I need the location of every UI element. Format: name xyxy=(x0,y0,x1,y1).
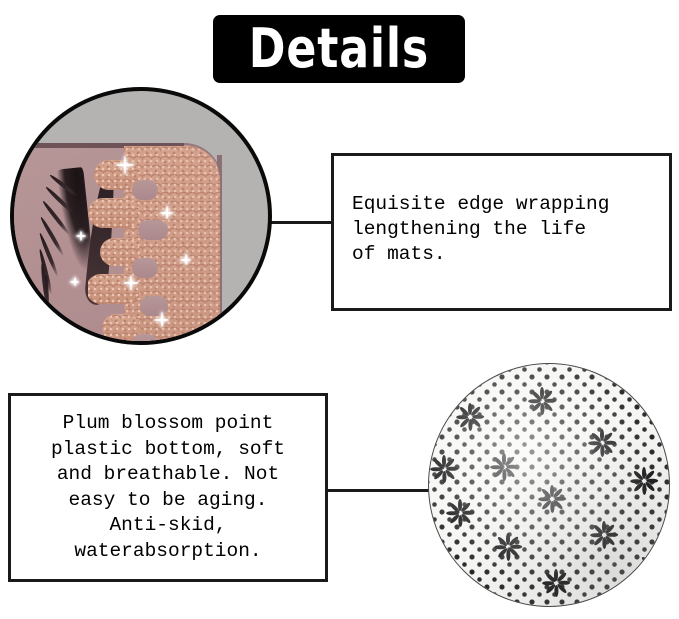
plum-blossom-icon xyxy=(535,482,569,516)
mat-notch xyxy=(132,334,158,345)
callout-edge-wrapping: Equisite edge wrapping lengthening the l… xyxy=(331,153,672,311)
plum-blossom-icon xyxy=(525,384,559,418)
glitter-drip-blob xyxy=(94,160,138,190)
mat-edge-closeup-image xyxy=(10,87,272,345)
mat-notch xyxy=(132,258,158,278)
product-details-infographic: Details xyxy=(0,0,679,619)
connector-text-to-backing xyxy=(324,489,444,492)
mat-notch xyxy=(140,296,168,316)
plum-blossom-icon xyxy=(453,400,487,434)
details-title-banner: Details xyxy=(213,15,465,83)
plum-blossom-icon xyxy=(627,464,661,498)
plum-blossom-icon xyxy=(587,518,621,552)
callout-plastic-bottom: Plum blossom point plastic bottom, soft … xyxy=(8,393,328,582)
page-title: Details xyxy=(249,22,429,76)
anti-skid-backing-image xyxy=(428,363,670,607)
callout-edge-wrapping-text: Equisite edge wrapping lengthening the l… xyxy=(352,192,609,267)
glitter-drip-blob xyxy=(88,274,140,304)
plum-blossom-icon xyxy=(635,550,669,584)
mat-notch xyxy=(138,220,168,240)
glitter-drip-blob xyxy=(88,198,140,228)
glitter-drip-pattern xyxy=(88,146,220,345)
plum-blossom-icon xyxy=(585,426,619,460)
callout-plastic-bottom-text: Plum blossom point plastic bottom, soft … xyxy=(11,411,325,564)
plum-blossom-icon xyxy=(428,452,461,486)
mat-notch xyxy=(132,180,158,200)
plum-blossom-icon xyxy=(539,566,573,600)
plum-blossom-icon xyxy=(443,496,477,530)
plum-blossom-icon xyxy=(487,450,521,484)
plum-blossom-icon xyxy=(491,530,525,564)
